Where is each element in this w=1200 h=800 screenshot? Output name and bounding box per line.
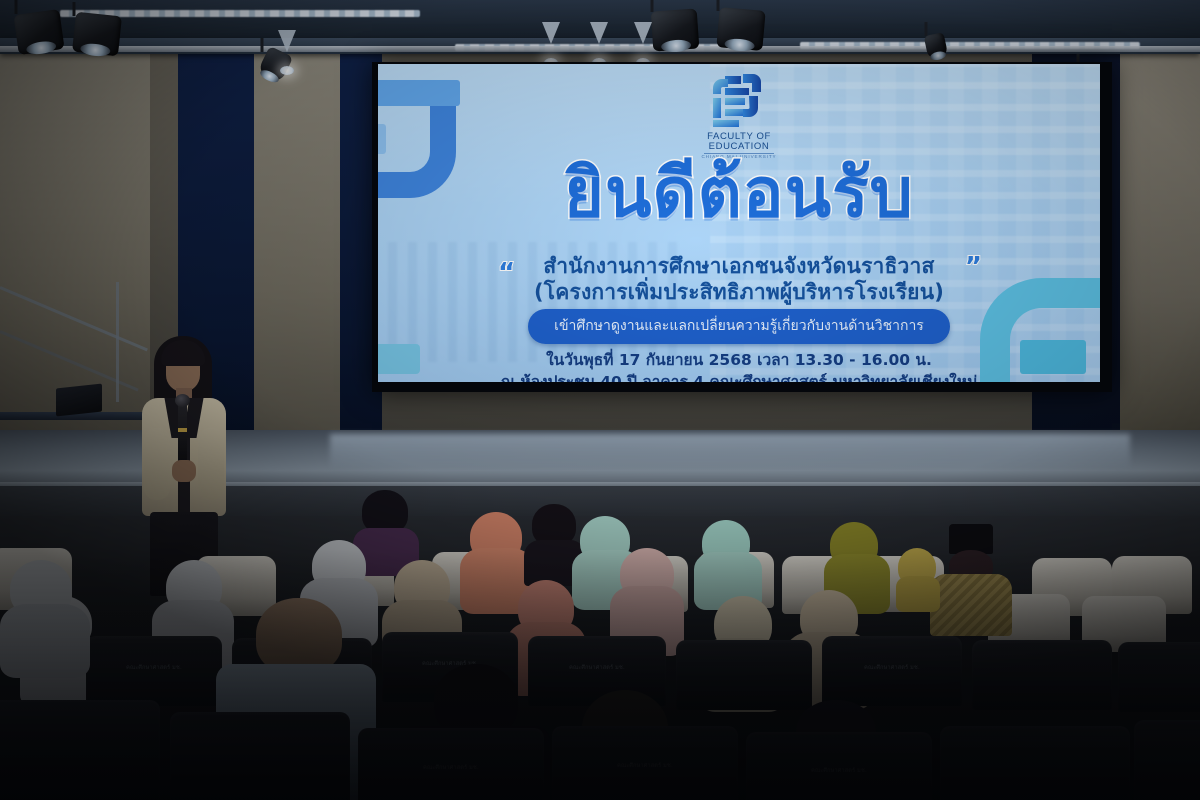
seat-label: คณะศึกษาศาสตร์ มช. — [126, 664, 182, 672]
microphone-body — [178, 400, 187, 466]
microphone-head-icon — [175, 394, 190, 407]
slide-venue-line: ณ ห้องประชุม 40 ปี อาคาร 4 คณะศึกษาศาสตร… — [378, 369, 1100, 382]
slide-pill-wrap: เข้าศึกษาดูงานและแลกเปลี่ยนความรู้เกี่ยว… — [378, 309, 1100, 344]
logo-mark-icon — [703, 72, 775, 130]
presenter-hands — [172, 460, 196, 482]
lamp-yoke — [651, 0, 654, 12]
seat-row[interactable]: คณะศึกษาศาสตร์ มช. — [822, 636, 962, 706]
seat-row-front[interactable] — [170, 712, 350, 800]
logo-line-2: EDUCATION — [701, 142, 776, 152]
slide-headline: ยินดีต้อนรับ — [564, 160, 914, 228]
auditorium-scene: FACULTY OF EDUCATION CHIANG MAI UNIVERSI… — [0, 0, 1200, 800]
presenter-arm-left — [144, 428, 170, 500]
attendee-hijab-white-front — [0, 560, 90, 670]
ceiling-downlight — [278, 30, 296, 52]
seat-row[interactable] — [1118, 642, 1200, 712]
ceiling-downlight — [542, 22, 560, 44]
lamp-yoke — [717, 0, 720, 11]
seat-row-front[interactable] — [0, 700, 160, 800]
presenter-arm-right — [198, 428, 224, 500]
attendee-hijab-drape — [0, 604, 90, 678]
wall-panel-beige-mid — [254, 44, 340, 464]
lamp-yoke — [925, 22, 928, 36]
wall-panel-right — [1120, 44, 1200, 464]
seat-label: คณะศึกษาศาสตร์ มช. — [617, 762, 673, 770]
faculty-of-education-logo: FACULTY OF EDUCATION CHIANG MAI UNIVERSI… — [378, 72, 1100, 160]
attendee-hijab-yellow — [896, 548, 940, 608]
seat-row-front[interactable]: คณะศึกษาศาสตร์ มช. — [552, 726, 738, 800]
lamp-head — [651, 8, 700, 51]
seat-label: คณะศึกษาศาสตร์ มช. — [569, 664, 625, 672]
attendee-head — [256, 598, 342, 674]
attendee-songkok-man — [930, 528, 1012, 624]
slide-purpose-pill: เข้าศึกษาดูงานและแลกเปลี่ยนความรู้เกี่ยว… — [528, 309, 950, 344]
seat-row[interactable] — [972, 640, 1112, 710]
slide-headline-wrap: ยินดีต้อนรับ “ ” — [378, 160, 1100, 228]
lamp-yoke — [261, 38, 264, 52]
seat-row-front[interactable] — [940, 726, 1130, 800]
seat-label: คณะศึกษาศาสตร์ มช. — [864, 664, 920, 672]
lighting-truss — [0, 46, 1200, 52]
attendee-hijab-drape — [896, 576, 940, 612]
seat-row-front[interactable] — [1134, 720, 1200, 800]
lamp-head — [72, 12, 122, 57]
seat-label: คณะศึกษาศาสตร์ มช. — [811, 767, 867, 775]
lamp-yoke — [73, 2, 76, 16]
lamp-yoke — [15, 0, 18, 14]
seat-row-front[interactable]: คณะศึกษาศาสตร์ มช. — [746, 732, 932, 800]
attendee-torso — [930, 574, 1012, 636]
seat-row[interactable]: คณะศึกษาศาสตร์ มช. — [86, 636, 222, 706]
presentation-slide: FACULTY OF EDUCATION CHIANG MAI UNIVERSI… — [378, 64, 1100, 382]
ceiling-downlight — [634, 22, 652, 44]
seat-row-front[interactable]: คณะศึกษาศาสตร์ มช. — [358, 728, 544, 800]
slide-subtitle-project: (โครงการเพิ่มประสิทธิภาพผู้บริหารโรงเรีย… — [378, 276, 1100, 309]
ceiling-downlight — [590, 22, 608, 44]
seat-label: คณะศึกษาศาสตร์ มช. — [423, 764, 479, 772]
lamp-head — [13, 9, 64, 55]
lamp-head — [716, 7, 765, 51]
stage-floor-reflection — [330, 434, 1130, 468]
microphone-band — [178, 428, 187, 432]
laptop-on-table — [56, 384, 102, 417]
handrail-post — [116, 282, 119, 402]
